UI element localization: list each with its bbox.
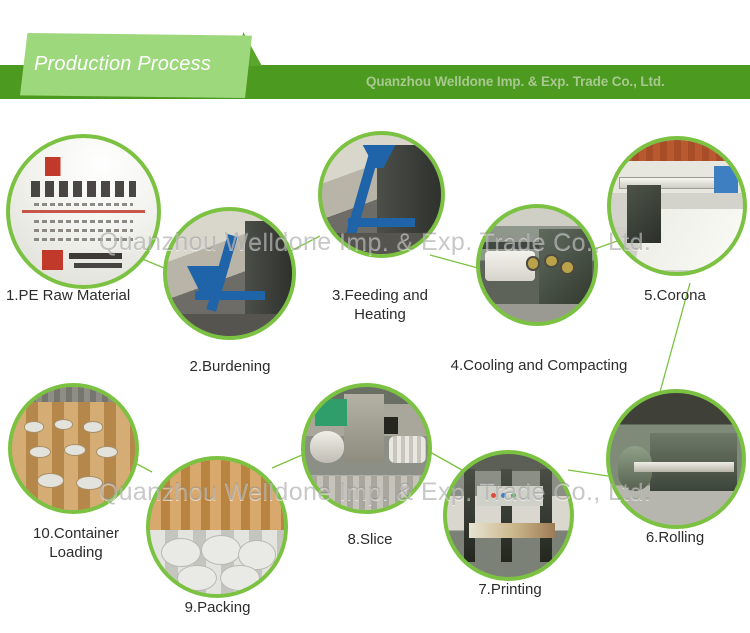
caption-slice: 8.Slice [300,530,440,549]
photo-corona [607,136,747,276]
rolling-machine-illustration [610,393,742,525]
container-rolls-illustration [12,387,135,510]
slice-machine-illustration [305,387,428,510]
caption-printing: 7.Printing [440,580,580,599]
feeding-machine-illustration [322,135,441,254]
cooling-machine-illustration [480,208,594,322]
caption-burdening: 2.Burdening [160,357,300,376]
photo-slice [301,383,432,514]
production-process-infographic: Production Process Quanzhou Welldone Imp… [0,0,750,633]
caption-cooling-and-compacting: 4.Cooling and Compacting [414,356,664,375]
photo-rolling [606,389,746,529]
caption-rolling: 6.Rolling [600,528,750,547]
pe-bag-illustration [10,138,157,285]
connector-3-4 [430,255,478,268]
photo-container-loading [8,383,139,514]
burdening-machine-illustration [167,211,292,336]
caption-pe-raw-material: 1.PE Raw Material [0,286,170,305]
caption-packing: 9.Packing [145,598,290,617]
caption-container-loading: 10.Container Loading [0,524,152,562]
printing-machine-illustration [447,454,570,577]
photo-feeding-and-heating [318,131,445,258]
packing-rolls-illustration [150,460,284,594]
photo-burdening [163,207,296,340]
photo-pe-raw-material [6,134,161,289]
caption-corona: 5.Corona [600,286,750,305]
photo-packing [146,456,288,598]
photo-cooling-and-compacting [476,204,598,326]
photo-printing [443,450,574,581]
corona-machine-illustration [611,140,743,272]
caption-feeding-and-heating: 3.Feeding and Heating [300,286,460,324]
connector-6-7 [568,470,608,476]
